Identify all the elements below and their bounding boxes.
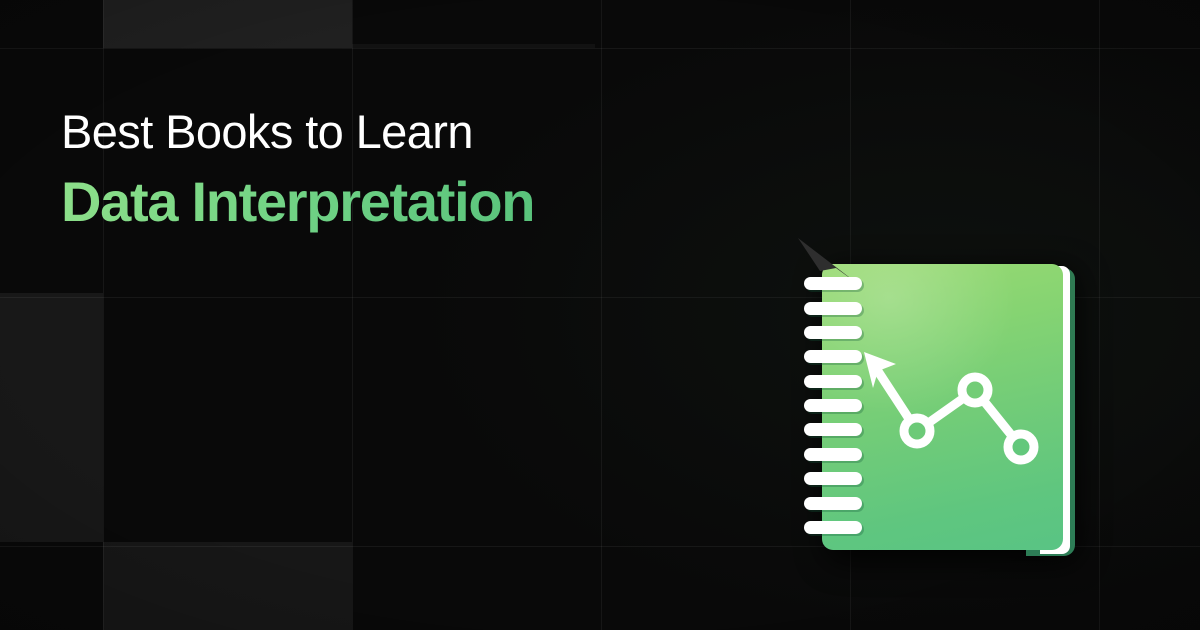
spiral-ring — [804, 375, 862, 388]
spiral-ring — [804, 302, 862, 315]
spiral-ring — [804, 277, 862, 290]
spiral-ring — [804, 399, 862, 412]
title-line-accent: Data Interpretation — [61, 171, 781, 233]
spiral-ring — [804, 497, 862, 510]
spiral-ring — [804, 423, 862, 436]
spiral-ring — [804, 350, 862, 363]
spiral-ring — [804, 472, 862, 485]
page-title: Best Books to Learn Data Interpretation — [61, 104, 781, 233]
spiral-ring — [804, 521, 862, 534]
spiral-ring — [804, 326, 862, 339]
notebook-illustration — [790, 238, 1090, 563]
spiral-ring — [804, 448, 862, 461]
title-line-primary: Best Books to Learn — [61, 104, 781, 159]
banner-canvas: Best Books to Learn Data Interpretation — [0, 0, 1200, 630]
